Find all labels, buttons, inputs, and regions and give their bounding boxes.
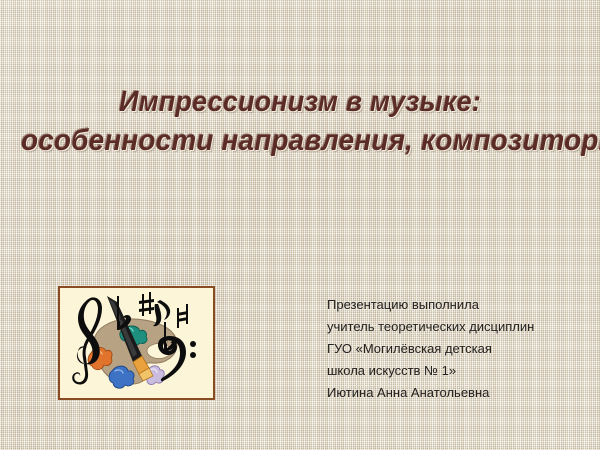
music-and-art-palette-graphic: [60, 288, 213, 398]
author-credit-block: Презентацию выполнила учитель теоретичес…: [327, 294, 577, 404]
byline-line-2: учитель теоретических дисциплин: [327, 316, 577, 338]
byline-line-1: Презентацию выполнила: [327, 294, 577, 316]
byline-line-3: ГУО «Могилёвская детская: [327, 338, 577, 360]
slide-title: Импрессионизм в музыке: особенности напр…: [0, 88, 600, 156]
byline-line-5: Иютина Анна Анатольевна: [327, 382, 577, 404]
presentation-slide: Импрессионизм в музыке: особенности напр…: [0, 0, 600, 450]
title-line-2: особенности направления, композиторы, жа…: [21, 126, 579, 156]
title-line-1: Импрессионизм в музыке:: [21, 88, 579, 117]
byline-line-4: школа искусств № 1»: [327, 360, 577, 382]
music-art-illustration: [58, 286, 215, 400]
